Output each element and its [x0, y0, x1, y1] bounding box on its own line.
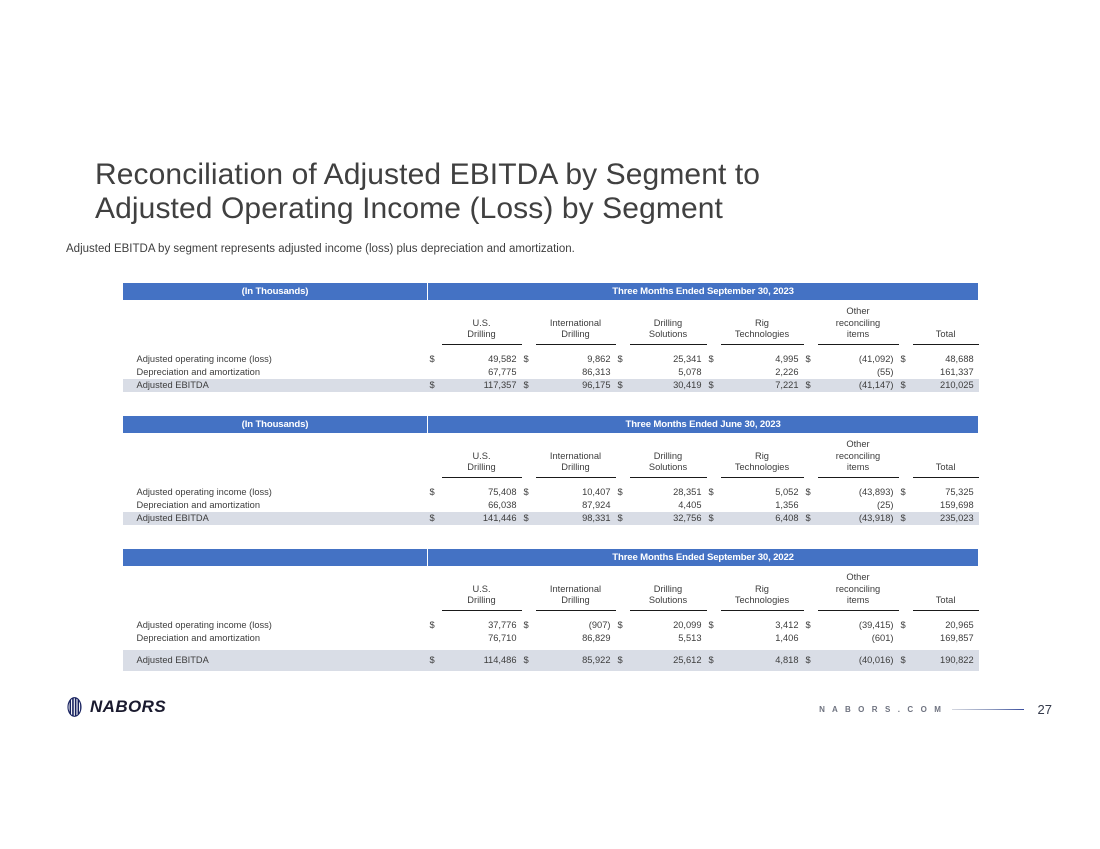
empty-corner — [123, 301, 428, 345]
cell-value: 2,226 — [721, 366, 804, 379]
table-row: Adjusted operating income (loss)$37,776$… — [123, 619, 979, 632]
page-title-line-1: Reconciliation of Adjusted EBITDA by Seg… — [95, 158, 995, 192]
cell-value: 4,995 — [721, 353, 804, 366]
cell-value: 117,357 — [442, 379, 522, 392]
row-label: Adjusted operating income (loss) — [123, 353, 428, 366]
currency-symbol: $ — [616, 353, 630, 366]
currency-symbol: $ — [804, 379, 818, 392]
cell-value: 114,486 — [442, 650, 522, 671]
spacer-cell — [707, 567, 721, 611]
currency-symbol — [428, 632, 442, 645]
cell-value: 86,313 — [536, 366, 616, 379]
col-header-line-1: U.S. — [472, 451, 490, 461]
currency-symbol — [707, 499, 721, 512]
currency-symbol — [899, 632, 913, 645]
col-header-line-1: Other — [846, 572, 869, 582]
cell-value: (43,918) — [818, 512, 899, 525]
currency-symbol: $ — [428, 650, 442, 671]
table-body: Adjusted operating income (loss)$37,776$… — [123, 619, 979, 671]
cell-value: 98,331 — [536, 512, 616, 525]
spacer-cell — [707, 434, 721, 478]
currency-symbol: $ — [522, 379, 536, 392]
page-footer: NABORS N A B O R S . C O M 27 — [0, 694, 1100, 734]
cell-value: 9,862 — [536, 353, 616, 366]
table-banner-row: Three Months Ended September 30, 2022 — [123, 549, 979, 567]
spacer-cell — [616, 434, 630, 478]
col-header-other-reconciling-items: Other reconciling items — [818, 567, 899, 611]
period-label: Three Months Ended June 30, 2023 — [428, 416, 979, 434]
col-header-line-2: Technologies — [735, 462, 789, 472]
spacer-cell — [804, 567, 818, 611]
table-body: Adjusted operating income (loss)$49,582$… — [123, 353, 979, 392]
site-url-label: N A B O R S . C O M — [819, 705, 943, 714]
table-row: Depreciation and amortization66,03887,92… — [123, 499, 979, 512]
cell-value: 1,356 — [721, 499, 804, 512]
cell-value: 10,407 — [536, 486, 616, 499]
cell-value: 4,818 — [721, 650, 804, 671]
cell-value: 5,052 — [721, 486, 804, 499]
currency-symbol: $ — [616, 379, 630, 392]
spacer-cell — [522, 567, 536, 611]
currency-symbol: $ — [616, 619, 630, 632]
col-header-line-2: Technologies — [735, 595, 789, 605]
spacer-cell — [899, 301, 913, 345]
col-header-line-1: Drilling — [654, 318, 682, 328]
cell-value: 75,408 — [442, 486, 522, 499]
currency-symbol — [804, 366, 818, 379]
currency-symbol — [707, 632, 721, 645]
currency-symbol: $ — [804, 486, 818, 499]
currency-symbol: $ — [428, 619, 442, 632]
cell-value: 76,710 — [442, 632, 522, 645]
table-banner-row: (In Thousands) Three Months Ended June 3… — [123, 416, 979, 434]
col-header-line-1: International — [550, 584, 601, 594]
currency-symbol: $ — [522, 512, 536, 525]
row-spacer — [123, 477, 979, 486]
col-header-line-1: Other — [846, 439, 869, 449]
cell-value: 66,038 — [442, 499, 522, 512]
spacer-cell — [804, 434, 818, 478]
currency-symbol — [899, 499, 913, 512]
currency-symbol: $ — [522, 619, 536, 632]
currency-symbol: $ — [428, 379, 442, 392]
currency-symbol: $ — [616, 650, 630, 671]
units-label — [123, 549, 428, 567]
nabors-logomark-icon — [66, 697, 83, 717]
currency-symbol: $ — [522, 353, 536, 366]
row-label: Adjusted operating income (loss) — [123, 486, 428, 499]
col-header-total: Total — [913, 301, 979, 345]
table-banner-row: (In Thousands) Three Months Ended Septem… — [123, 283, 979, 301]
cell-value: 25,341 — [630, 353, 707, 366]
currency-symbol: $ — [428, 486, 442, 499]
cell-value: 235,023 — [913, 512, 979, 525]
cell-value: (601) — [818, 632, 899, 645]
spacer-cell — [707, 301, 721, 345]
currency-symbol: $ — [804, 650, 818, 671]
col-header-line-2: Solutions — [649, 329, 687, 339]
currency-symbol: $ — [899, 650, 913, 671]
spacer-cell — [428, 567, 442, 611]
page-number: 27 — [1038, 702, 1052, 717]
column-header-row: U.S. Drilling International Drilling Dri… — [123, 301, 979, 345]
currency-symbol — [899, 366, 913, 379]
cell-value: 169,857 — [913, 632, 979, 645]
reconciliation-table-q3-2022: Three Months Ended September 30, 2022 U.… — [122, 548, 978, 671]
currency-symbol: $ — [804, 353, 818, 366]
spacer-cell — [522, 301, 536, 345]
row-label: Adjusted EBITDA — [123, 650, 428, 671]
col-header-line-2: reconciling — [836, 318, 880, 328]
reconciliation-table-q2-2023: (In Thousands) Three Months Ended June 3… — [122, 415, 978, 525]
period-label: Three Months Ended September 30, 2022 — [428, 549, 979, 567]
cell-value: 86,829 — [536, 632, 616, 645]
currency-symbol — [428, 499, 442, 512]
currency-symbol: $ — [899, 619, 913, 632]
spacer-cell — [899, 434, 913, 478]
currency-symbol: $ — [899, 486, 913, 499]
currency-symbol: $ — [522, 650, 536, 671]
spacer-cell — [899, 567, 913, 611]
col-header-line-1: Drilling — [654, 451, 682, 461]
col-header-rig-technologies: Rig Technologies — [721, 301, 804, 345]
spacer-cell — [522, 434, 536, 478]
col-header-line-2: Solutions — [649, 595, 687, 605]
cell-value: 30,419 — [630, 379, 707, 392]
currency-symbol: $ — [616, 486, 630, 499]
cell-value: 7,221 — [721, 379, 804, 392]
currency-symbol: $ — [707, 486, 721, 499]
col-header-line-1: Rig — [755, 584, 769, 594]
row-label: Depreciation and amortization — [123, 366, 428, 379]
table: (In Thousands) Three Months Ended Septem… — [122, 282, 979, 392]
page-title: Reconciliation of Adjusted EBITDA by Seg… — [95, 158, 995, 226]
currency-symbol: $ — [428, 512, 442, 525]
currency-symbol: $ — [899, 353, 913, 366]
currency-symbol — [522, 632, 536, 645]
col-header-drilling-solutions: Drilling Solutions — [630, 301, 707, 345]
currency-symbol — [616, 632, 630, 645]
cell-value: 25,612 — [630, 650, 707, 671]
table-row: Depreciation and amortization76,71086,82… — [123, 632, 979, 645]
cell-value: 37,776 — [442, 619, 522, 632]
cell-value: 6,408 — [721, 512, 804, 525]
currency-symbol: $ — [707, 650, 721, 671]
col-header-line-2: Drilling — [561, 462, 589, 472]
currency-symbol — [522, 366, 536, 379]
currency-symbol: $ — [804, 619, 818, 632]
col-header-line-2: Drilling — [467, 595, 495, 605]
cell-value: 210,025 — [913, 379, 979, 392]
row-spacer — [123, 610, 979, 619]
currency-symbol: $ — [707, 379, 721, 392]
col-header-international-drilling: International Drilling — [536, 434, 616, 478]
cell-value: 67,775 — [442, 366, 522, 379]
col-header-other-reconciling-items: Other reconciling items — [818, 434, 899, 478]
col-header-other-reconciling-items: Other reconciling items — [818, 301, 899, 345]
currency-symbol: $ — [707, 512, 721, 525]
cell-value: 3,412 — [721, 619, 804, 632]
col-header-line-2: reconciling — [836, 451, 880, 461]
table: Three Months Ended September 30, 2022 U.… — [122, 548, 979, 671]
currency-symbol — [707, 366, 721, 379]
currency-symbol: $ — [899, 512, 913, 525]
page-title-line-2: Adjusted Operating Income (Loss) by Segm… — [95, 192, 995, 226]
col-header-line-2: Drilling — [467, 462, 495, 472]
cell-value: 5,078 — [630, 366, 707, 379]
cell-value: 49,582 — [442, 353, 522, 366]
row-label: Depreciation and amortization — [123, 632, 428, 645]
cell-value: 28,351 — [630, 486, 707, 499]
cell-value: 87,924 — [536, 499, 616, 512]
col-header-line-2: reconciling — [836, 584, 880, 594]
currency-symbol: $ — [428, 353, 442, 366]
col-header-drilling-solutions: Drilling Solutions — [630, 567, 707, 611]
cell-value: 141,446 — [442, 512, 522, 525]
cell-value: (55) — [818, 366, 899, 379]
col-header-line-1: International — [550, 318, 601, 328]
col-header-us-drilling: U.S. Drilling — [442, 301, 522, 345]
cell-value: 75,325 — [913, 486, 979, 499]
col-header-drilling-solutions: Drilling Solutions — [630, 434, 707, 478]
column-header-row: U.S. Drilling International Drilling Dri… — [123, 567, 979, 611]
currency-symbol: $ — [707, 353, 721, 366]
footer-right-group: N A B O R S . C O M 27 — [819, 702, 1052, 717]
currency-symbol: $ — [804, 512, 818, 525]
table-row-total: Adjusted EBITDA$141,446$98,331$32,756$6,… — [123, 512, 979, 525]
col-header-line-1: International — [550, 451, 601, 461]
col-header-rig-technologies: Rig Technologies — [721, 434, 804, 478]
cell-value: (41,147) — [818, 379, 899, 392]
row-label: Depreciation and amortization — [123, 499, 428, 512]
cell-value: 5,513 — [630, 632, 707, 645]
table-row-total: Adjusted EBITDA$117,357$96,175$30,419$7,… — [123, 379, 979, 392]
col-header-line-2: Drilling — [467, 329, 495, 339]
cell-value: (907) — [536, 619, 616, 632]
footer-divider-rule — [952, 709, 1024, 710]
col-header-line-1: Rig — [755, 451, 769, 461]
currency-symbol — [616, 499, 630, 512]
cell-value: (41,092) — [818, 353, 899, 366]
currency-symbol: $ — [616, 512, 630, 525]
table-row: Depreciation and amortization67,77586,31… — [123, 366, 979, 379]
table-row: Adjusted operating income (loss)$75,408$… — [123, 486, 979, 499]
cell-value: 96,175 — [536, 379, 616, 392]
reconciliation-table-q3-2023: (In Thousands) Three Months Ended Septem… — [122, 282, 978, 392]
row-label: Adjusted EBITDA — [123, 379, 428, 392]
col-header-international-drilling: International Drilling — [536, 301, 616, 345]
spacer-cell — [804, 301, 818, 345]
col-header-line-1: Drilling — [654, 584, 682, 594]
cell-value: 85,922 — [536, 650, 616, 671]
col-header-line-3: items — [847, 329, 869, 339]
brand-wordmark: NABORS — [90, 697, 166, 717]
period-label: Three Months Ended September 30, 2023 — [428, 283, 979, 301]
cell-value: (39,415) — [818, 619, 899, 632]
cell-value: 48,688 — [913, 353, 979, 366]
cell-value: 190,822 — [913, 650, 979, 671]
cell-value: (25) — [818, 499, 899, 512]
table: (In Thousands) Three Months Ended June 3… — [122, 415, 979, 525]
column-header-row: U.S. Drilling International Drilling Dri… — [123, 434, 979, 478]
col-header-line-3: items — [847, 462, 869, 472]
spacer-cell — [428, 434, 442, 478]
cell-value: 161,337 — [913, 366, 979, 379]
col-header-line-3: items — [847, 595, 869, 605]
units-label: (In Thousands) — [123, 283, 428, 301]
empty-corner — [123, 434, 428, 478]
spacer-cell — [428, 301, 442, 345]
col-header-total: Total — [913, 567, 979, 611]
col-header-total: Total — [913, 434, 979, 478]
cell-value: 4,405 — [630, 499, 707, 512]
col-header-us-drilling: U.S. Drilling — [442, 434, 522, 478]
units-label: (In Thousands) — [123, 416, 428, 434]
col-header-line-2: Technologies — [735, 329, 789, 339]
currency-symbol — [522, 499, 536, 512]
cell-value: 159,698 — [913, 499, 979, 512]
table-body: Adjusted operating income (loss)$75,408$… — [123, 486, 979, 525]
row-spacer — [123, 344, 979, 353]
col-header-line-2: Solutions — [649, 462, 687, 472]
col-header-international-drilling: International Drilling — [536, 567, 616, 611]
brand-logo: NABORS — [66, 697, 166, 717]
cell-value: 1,406 — [721, 632, 804, 645]
cell-value: 20,965 — [913, 619, 979, 632]
currency-symbol: $ — [707, 619, 721, 632]
col-header-us-drilling: U.S. Drilling — [442, 567, 522, 611]
currency-symbol — [804, 499, 818, 512]
row-label: Adjusted EBITDA — [123, 512, 428, 525]
col-header-line-1: U.S. — [472, 584, 490, 594]
row-label: Adjusted operating income (loss) — [123, 619, 428, 632]
cell-value: 20,099 — [630, 619, 707, 632]
table-row-total: Adjusted EBITDA$114,486$85,922$25,612$4,… — [123, 650, 979, 671]
spacer-cell — [616, 301, 630, 345]
currency-symbol — [804, 632, 818, 645]
currency-symbol — [428, 366, 442, 379]
currency-symbol: $ — [899, 379, 913, 392]
col-header-line-2: Drilling — [561, 595, 589, 605]
col-header-rig-technologies: Rig Technologies — [721, 567, 804, 611]
col-header-line-1: U.S. — [472, 318, 490, 328]
cell-value: (40,016) — [818, 650, 899, 671]
table-row: Adjusted operating income (loss)$49,582$… — [123, 353, 979, 366]
currency-symbol — [616, 366, 630, 379]
spacer-cell — [616, 567, 630, 611]
cell-value: 32,756 — [630, 512, 707, 525]
currency-symbol: $ — [522, 486, 536, 499]
cell-value: (43,893) — [818, 486, 899, 499]
page-subtitle: Adjusted EBITDA by segment represents ad… — [66, 242, 575, 257]
col-header-line-2: Drilling — [561, 329, 589, 339]
empty-corner — [123, 567, 428, 611]
col-header-line-1: Other — [846, 306, 869, 316]
col-header-line-1: Rig — [755, 318, 769, 328]
